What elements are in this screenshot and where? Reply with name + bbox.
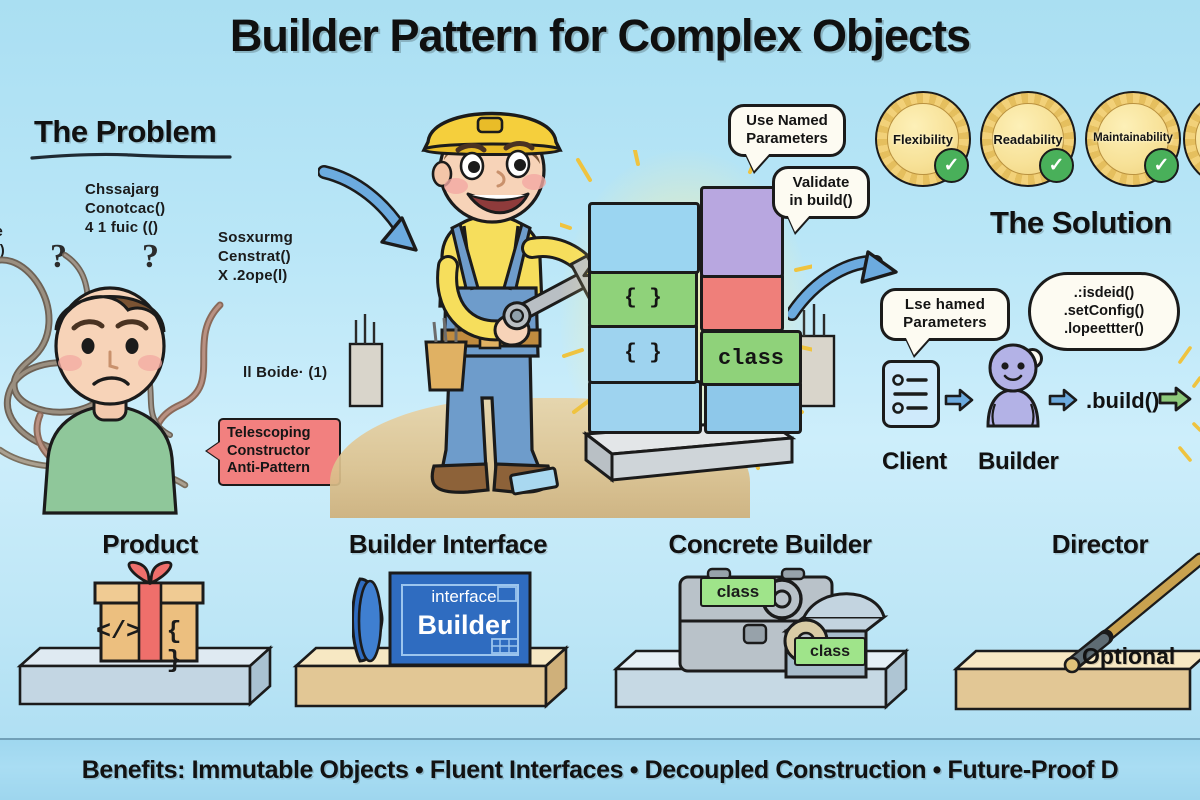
thought-line: .lopeettter() <box>1039 320 1169 338</box>
product-badge-braces: { } <box>152 617 196 675</box>
block-braces-upper: { } <box>588 268 698 328</box>
badge-flexibility: Flexibility ✓ <box>880 96 966 182</box>
bubble-tail <box>905 336 931 355</box>
callout-tail <box>207 442 220 460</box>
director-optional-label: Optional <box>1082 643 1175 670</box>
thought-line: .setConfig() <box>1039 302 1169 320</box>
bubble-line: Use Named <box>741 112 833 130</box>
concrete-builder-title: Concrete Builder <box>630 529 910 560</box>
builder-person-figure <box>980 342 1046 428</box>
concrete-builder-badge-class-1: class <box>700 577 776 607</box>
pattern-roles-row: Product </> { } Builder Interface <box>0 515 1200 745</box>
client-label: Client <box>882 448 947 476</box>
block-label: { } <box>591 271 695 325</box>
bubble-validate-in-build: Validate in build() <box>772 166 870 219</box>
block-base-right <box>704 380 802 434</box>
block-label <box>707 383 799 431</box>
arrow-client-to-builder <box>944 388 974 412</box>
block-label <box>591 205 697 271</box>
block-label <box>703 189 781 275</box>
benefits-banner-text: Benefits: Immutable Objects • Fluent Int… <box>82 756 1119 785</box>
bubble-line: Parameters <box>741 130 833 148</box>
check-icon: ✓ <box>1039 148 1074 183</box>
product-badge-code: </> <box>96 617 140 646</box>
builder-interface-title: Builder Interface <box>318 529 578 560</box>
callout-line: Constructor <box>227 443 333 461</box>
check-icon: ✓ <box>934 148 969 183</box>
infographic-canvas: Builder Pattern for Complex Objects The … <box>0 0 1200 800</box>
block-puzzle-red <box>700 272 784 332</box>
block-class: class <box>700 330 802 386</box>
concrete-builder-badge-class-2: class <box>794 637 866 666</box>
thought-line: .:isdeid() <box>1039 284 1169 302</box>
benefits-banner: Benefits: Immutable Objects • Fluent Int… <box>0 738 1200 800</box>
client-document-icon <box>882 360 940 428</box>
bubble-use-named-parameters: Use Named Parameters <box>728 104 846 157</box>
block-braces-lower: { } <box>588 322 698 384</box>
product-title: Product <box>30 529 270 560</box>
bubble-tail <box>745 152 771 171</box>
badge-label: Readability <box>975 132 1081 147</box>
block-base-left <box>588 380 702 434</box>
badge-readability: Readability ✓ <box>985 96 1071 182</box>
bubble-line: Parameters <box>893 314 997 332</box>
check-icon: ✓ <box>1144 148 1179 183</box>
problem-underline <box>30 152 232 161</box>
block-label <box>591 383 699 431</box>
blueprint-label-builder: Builder <box>404 610 524 641</box>
block-label: class <box>703 333 799 383</box>
bubble-line: Validate <box>785 174 857 192</box>
confused-developer-avatar <box>10 258 210 518</box>
problem-heading: The Problem <box>34 114 216 150</box>
bubble-use-named-parameters-solution: Lse hamed Parameters <box>880 288 1010 341</box>
scribble-line: Chssajarg <box>85 180 165 199</box>
block-label <box>703 275 781 329</box>
badge-label: Maintainability <box>1080 132 1186 144</box>
product-glow-sparkles <box>1150 340 1200 480</box>
badge-label: Flexibility <box>870 132 976 147</box>
builder-label: Builder <box>978 448 1059 476</box>
block-puzzle-blue <box>588 202 700 274</box>
bubble-line: Lse hamed <box>893 296 997 314</box>
callout-line: Telescoping <box>227 425 333 443</box>
page-title: Builder Pattern for Complex Objects <box>0 8 1200 64</box>
badge-maintainability: Maintainability ✓ <box>1090 96 1176 182</box>
solution-heading: The Solution <box>990 205 1172 241</box>
callout-line: Anti-Pattern <box>227 460 333 478</box>
badge-cut-off <box>1188 96 1200 182</box>
build-call-label: .build() <box>1086 388 1159 414</box>
bubble-tail <box>787 214 811 232</box>
bubble-line: in build() <box>785 192 857 210</box>
telescoping-constructor-callout: Telescoping Constructor Anti-Pattern <box>218 418 341 486</box>
block-label: { } <box>591 325 695 381</box>
arrow-builder-to-build <box>1048 388 1078 412</box>
blueprint-label-interface: interface <box>404 587 524 607</box>
